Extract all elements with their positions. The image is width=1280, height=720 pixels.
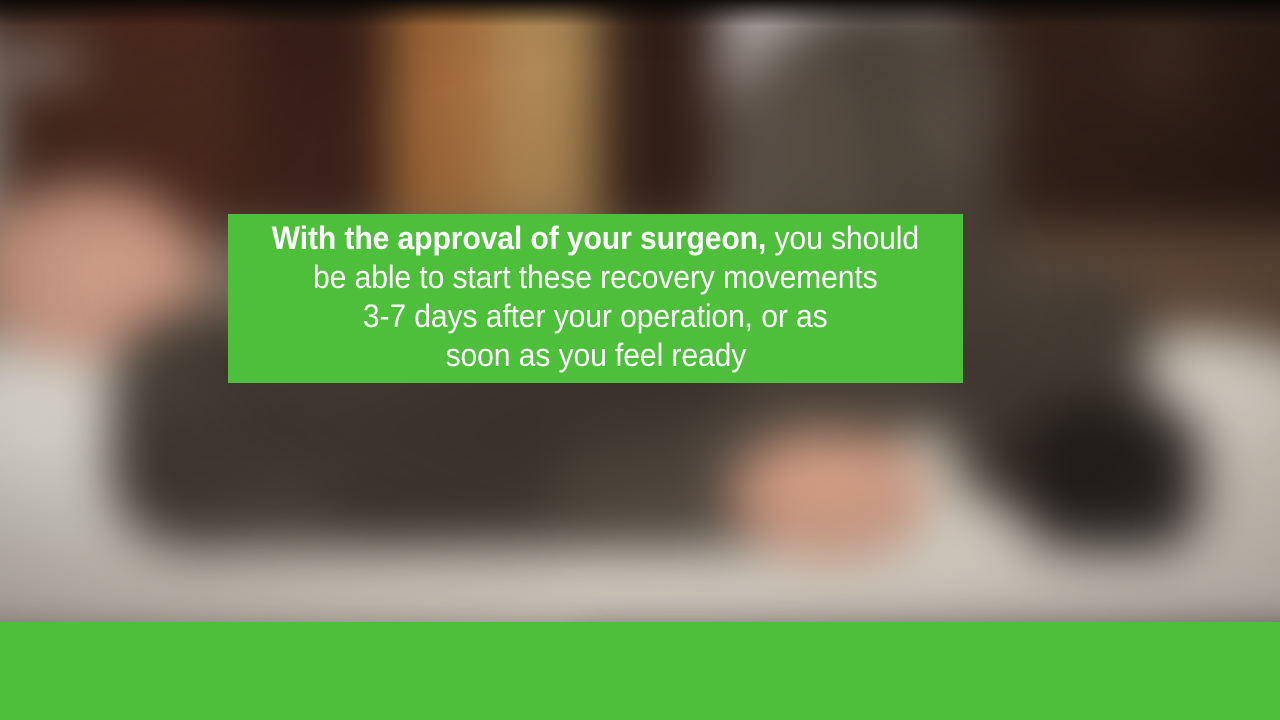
bg-person-foot: [1020, 400, 1200, 550]
caption-line-3: 3-7 days after your operation, or as: [363, 297, 828, 336]
bg-iv-arm: [0, 50, 80, 76]
caption-bold-lead: With the approval of your surgeon,: [272, 220, 767, 256]
caption-line-1: With the approval of your surgeon, you s…: [272, 219, 919, 258]
caption-overlay: With the approval of your surgeon, you s…: [228, 214, 963, 383]
video-player-stage: With the approval of your surgeon, you s…: [0, 0, 1280, 720]
caption-line-4: soon as you feel ready: [445, 336, 746, 375]
bg-door-right: [490, 0, 600, 230]
bg-person-hand: [730, 430, 930, 560]
bottom-green-bar: The information in this video is not int…: [0, 622, 1280, 720]
caption-line-2: be able to start these recovery movement…: [313, 258, 878, 297]
caption-line-1-rest: you should: [766, 220, 919, 256]
